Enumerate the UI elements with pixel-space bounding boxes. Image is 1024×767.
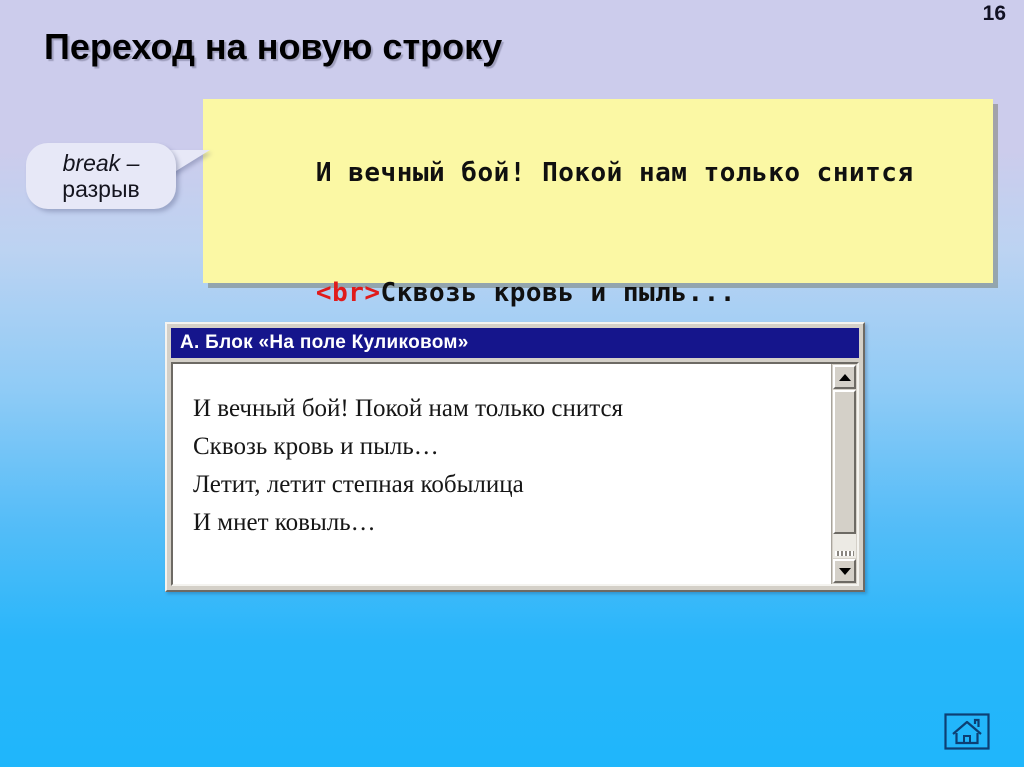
page-title: Переход на новую строку	[44, 26, 502, 68]
callout-term: break –	[63, 150, 140, 176]
scrollbar-track[interactable]	[833, 390, 856, 558]
caret-up-icon	[839, 374, 851, 381]
callout-bubble: break – разрыв	[26, 143, 176, 209]
scrollbar-thumb[interactable]	[833, 390, 856, 534]
slide-canvas: 16 Переход на новую строку И вечный бой!…	[0, 0, 1024, 767]
vertical-scrollbar[interactable]	[831, 364, 857, 584]
content-line: И вечный бой! Покой нам только снится	[193, 390, 831, 428]
window-titlebar: А. Блок «На поле Куликовом»	[171, 328, 859, 358]
code-line: И вечный бой! Покой нам только снится	[219, 113, 993, 233]
scroll-up-button[interactable]	[833, 365, 856, 389]
scroll-down-button[interactable]	[833, 559, 856, 583]
code-text: Сквозь кровь и пыль...	[381, 278, 736, 308]
resize-grip-icon	[835, 551, 854, 556]
code-text: И вечный бой! Покой нам только снится	[316, 158, 914, 188]
window-content-area: И вечный бой! Покой нам только снится Ск…	[173, 364, 831, 584]
br-tag: <br>	[316, 278, 381, 308]
page-number: 16	[983, 2, 1006, 26]
code-listing-box: И вечный бой! Покой нам только снится <b…	[203, 99, 993, 283]
content-line: И мнет ковыль…	[193, 504, 831, 542]
window-body: И вечный бой! Покой нам только снится Ск…	[171, 362, 859, 586]
home-icon-svg	[944, 713, 990, 750]
callout-translation: разрыв	[62, 176, 139, 202]
content-line: Летит, летит степная кобылица	[193, 466, 831, 504]
window-title: А. Блок «На поле Куликовом»	[180, 332, 469, 354]
home-icon[interactable]	[944, 713, 990, 750]
content-line: Сквозь кровь и пыль…	[193, 428, 831, 466]
browser-window: А. Блок «На поле Куликовом» И вечный бой…	[165, 322, 865, 592]
caret-down-icon	[839, 568, 851, 575]
